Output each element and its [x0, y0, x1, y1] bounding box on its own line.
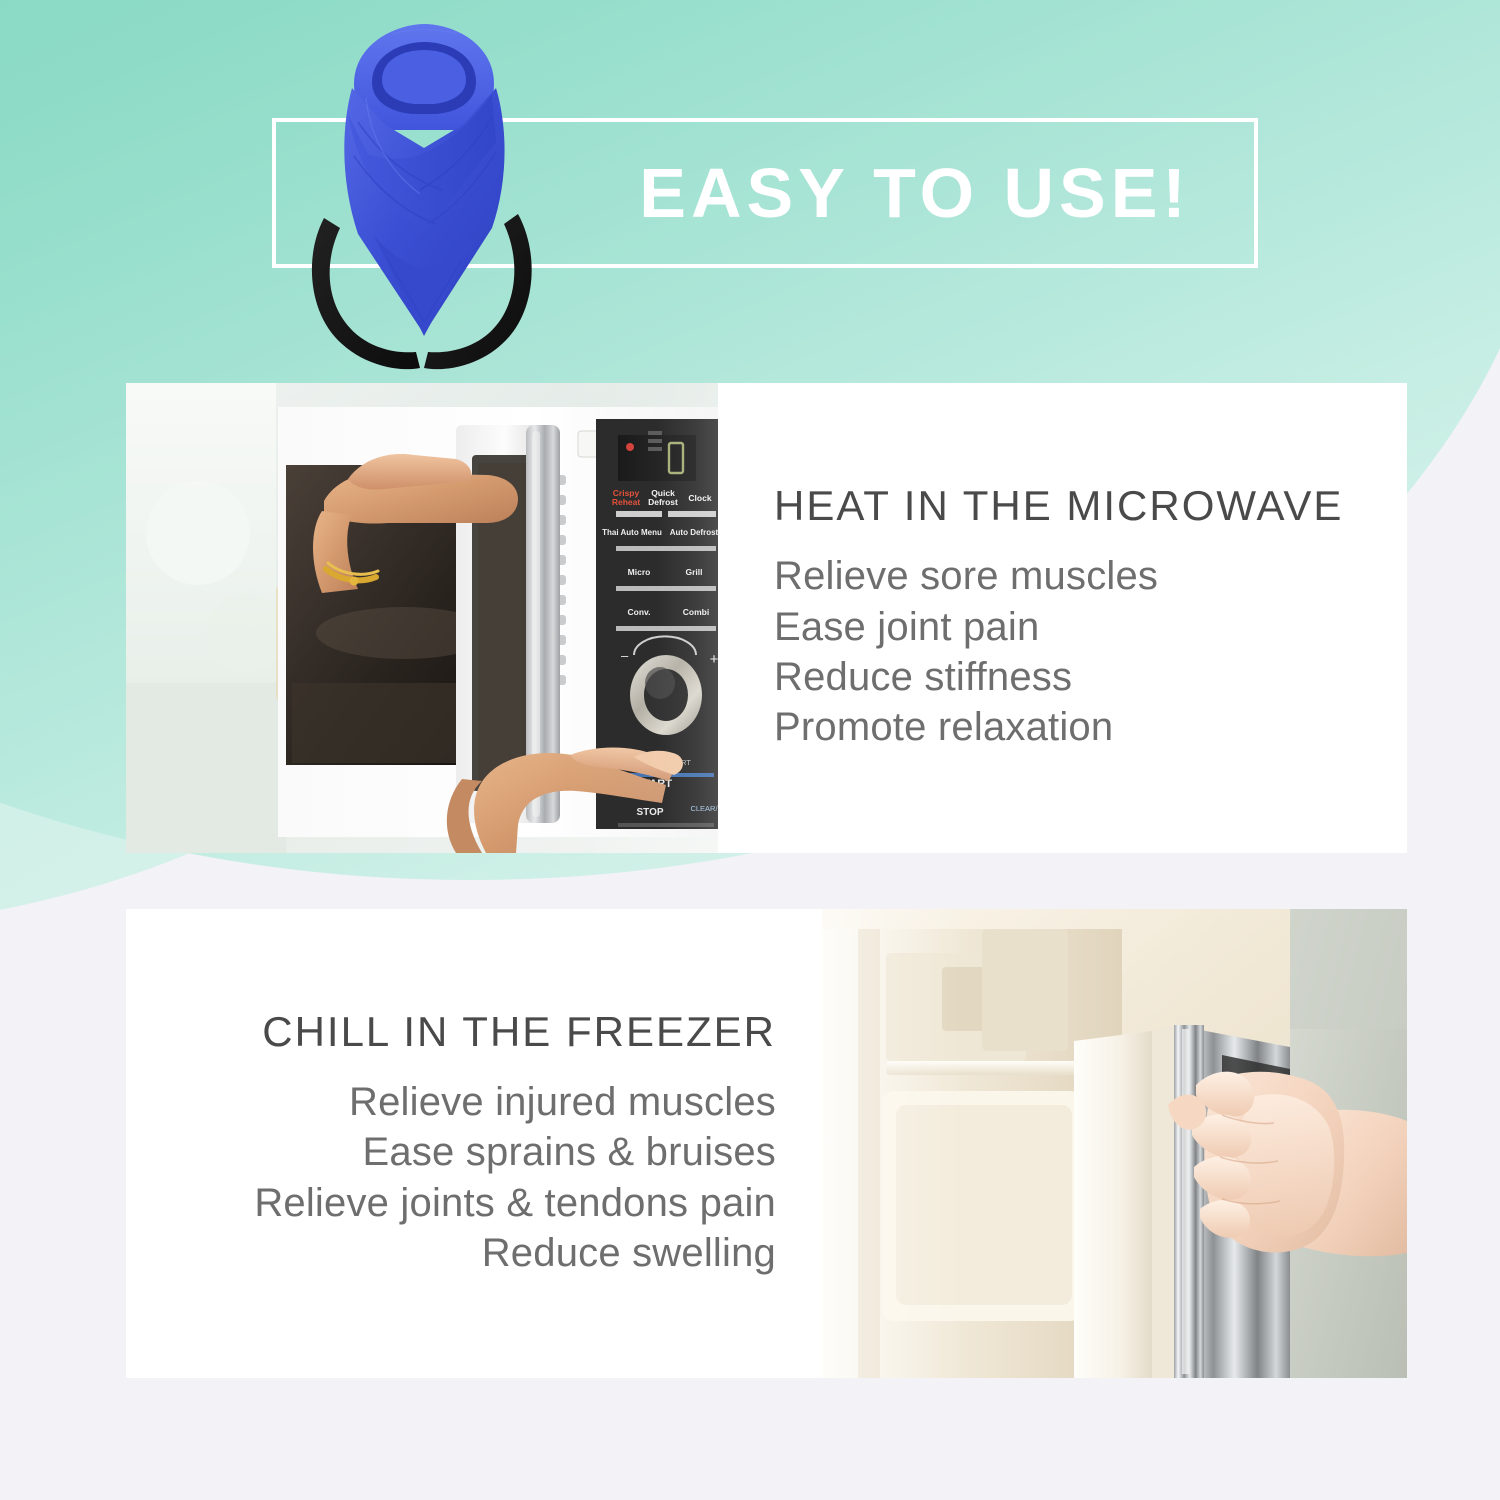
heading-chill: CHILL IN THE FREEZER [262, 1009, 776, 1055]
bullets-heat: Relieve sore muscles Ease joint pain Red… [774, 551, 1158, 753]
card-chill-text: CHILL IN THE FREEZER Relieve injured mus… [126, 909, 822, 1378]
bullet-chill-4: Reduce swelling [254, 1228, 776, 1278]
card-heat-in-the-microwave: Crispy Reheat Quick Defrost Clock Thai A… [126, 383, 1407, 853]
window-bokeh-2 [206, 593, 286, 673]
door-edge-shadow [1152, 1025, 1174, 1378]
bullet-heat-1: Relieve sore muscles [774, 551, 1158, 601]
card-chill-in-the-freezer: CHILL IN THE FREEZER Relieve injured mus… [126, 909, 1407, 1378]
photo-microwave: Crispy Reheat Quick Defrost Clock Thai A… [126, 383, 746, 853]
counter [126, 683, 286, 853]
product-image-neck-wrap [296, 22, 548, 374]
bullet-heat-2: Ease joint pain [774, 602, 1158, 652]
room-wall-upper [1290, 909, 1407, 1029]
bullet-chill-1: Relieve injured muscles [254, 1077, 776, 1127]
window-bokeh-1 [146, 481, 250, 585]
freezer-scene [822, 909, 1407, 1378]
heading-heat: HEAT IN THE MICROWAVE [774, 483, 1343, 529]
palm-highlight [1239, 1094, 1335, 1237]
neck-wrap-illustration [296, 22, 548, 374]
bullet-chill-3: Relieve joints & tendons pain [254, 1178, 776, 1228]
bullets-chill: Relieve injured muscles Ease sprains & b… [254, 1077, 776, 1279]
handle-bar-highlight [1182, 1029, 1189, 1374]
card-heat-text: HEAT IN THE MICROWAVE Relieve sore muscl… [746, 383, 1407, 853]
bullet-heat-4: Promote relaxation [774, 702, 1158, 752]
microwave-scene: Crispy Reheat Quick Defrost Clock Thai A… [126, 383, 746, 853]
photo-white-edge [718, 383, 746, 853]
photo-left-fade [822, 909, 1122, 1378]
wrap-collar-opening [382, 50, 466, 104]
photo-freezer [822, 909, 1407, 1378]
bullet-heat-3: Reduce stiffness [774, 652, 1158, 702]
bullet-chill-2: Ease sprains & bruises [254, 1127, 776, 1177]
